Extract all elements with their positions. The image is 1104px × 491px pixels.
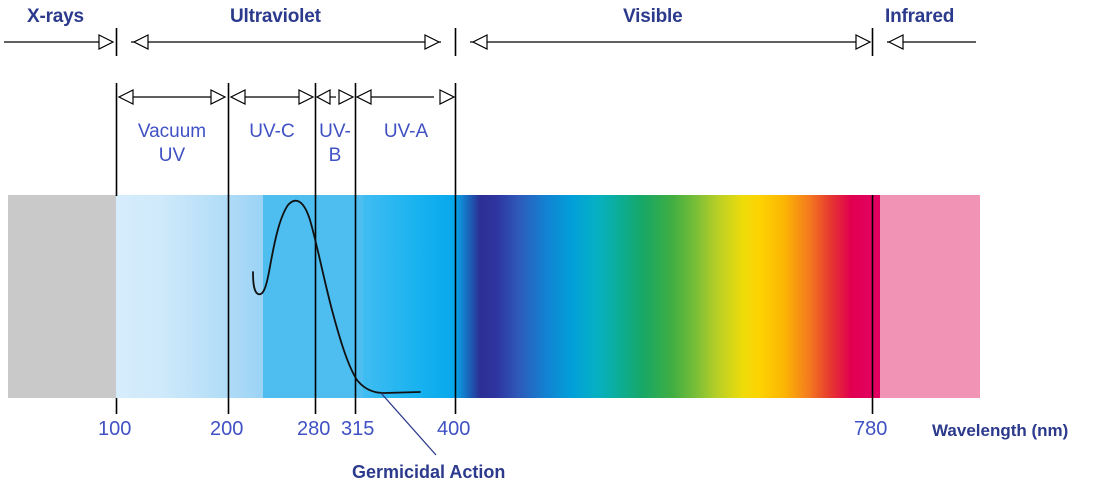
spectrum-segment-uvb-uva <box>363 195 455 398</box>
region-label-infrared: Infrared <box>885 6 954 28</box>
spectrum-segment-infrared <box>880 195 980 398</box>
arrowhead-right-uvc <box>299 90 313 104</box>
region-label-ultraviolet: Ultraviolet <box>230 6 321 28</box>
tick-label-100: 100 <box>98 418 131 441</box>
uv-spectrum-diagram: X-rays Ultraviolet Visible Infrared Vacu… <box>0 0 1104 491</box>
region-label-xrays: X-rays <box>27 6 84 28</box>
arrowhead-left-uvc <box>231 90 245 104</box>
spectrum-segment-uvc <box>263 195 363 398</box>
spectrum-segment-vacuum-uv <box>116 195 263 398</box>
uv-subband-label-uvb: UV- B <box>317 120 353 168</box>
arrowhead-right-uvb <box>339 90 353 104</box>
tick-label-780: 780 <box>854 418 887 441</box>
arrowhead-right-ultraviolet <box>425 35 439 49</box>
arrowhead-left-uvb <box>317 90 330 104</box>
arrowhead-right-visible <box>856 35 870 49</box>
region-label-visible: Visible <box>623 6 683 28</box>
arrowhead-left-uva <box>357 90 371 104</box>
tick-label-400: 400 <box>437 418 470 441</box>
arrowhead-left-infrared <box>889 35 903 49</box>
arrowhead-right-xrays <box>99 35 113 49</box>
callout-label-germicidal-action: Germicidal Action <box>352 462 505 483</box>
callout-leader-line <box>381 393 436 455</box>
tick-label-315: 315 <box>341 418 374 441</box>
axis-title-wavelength: Wavelength (nm) <box>932 421 1068 441</box>
uv-subband-label-uva: UV-A <box>360 120 452 144</box>
spectrum-segment-deep-red <box>872 195 880 398</box>
arrowhead-left-vacuum-uv <box>119 90 133 104</box>
uv-subband-label-vacuum-uv: Vacuum UV <box>118 120 226 168</box>
spectrum-segment-xray <box>8 195 116 398</box>
spectrum-strip <box>8 195 980 398</box>
tick-label-280: 280 <box>297 418 330 441</box>
arrowhead-left-visible <box>473 35 487 49</box>
spectrum-segment-visible <box>455 195 872 398</box>
arrowhead-right-uva <box>440 90 454 104</box>
tick-label-200: 200 <box>210 418 243 441</box>
arrowhead-left-ultraviolet <box>134 35 148 49</box>
uv-subband-label-uvc: UV-C <box>231 120 313 144</box>
arrowhead-right-vacuum-uv <box>211 90 225 104</box>
